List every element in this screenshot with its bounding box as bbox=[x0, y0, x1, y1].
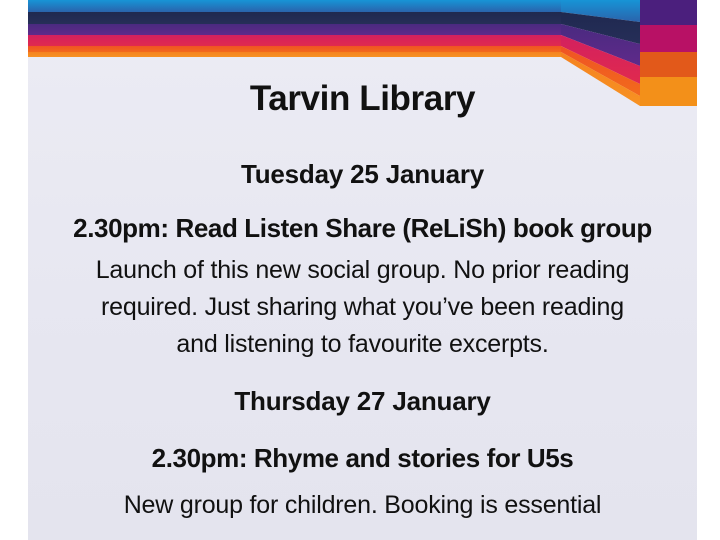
event-heading-relish: 2.30pm: Read Listen Share (ReLiSh) book … bbox=[28, 214, 697, 244]
poster-content: Tarvin Library Tuesday 25 January 2.30pm… bbox=[28, 0, 697, 540]
description-line: and listening to favourite excerpts. bbox=[42, 326, 683, 363]
description-line: required. Just sharing what you’ve been … bbox=[42, 289, 683, 326]
event-date-tuesday: Tuesday 25 January bbox=[28, 160, 697, 190]
event-heading-rhyme: 2.30pm: Rhyme and stories for U5s bbox=[28, 444, 697, 474]
description-line: Launch of this new social group. No prio… bbox=[42, 252, 683, 289]
poster: Tarvin Library Tuesday 25 January 2.30pm… bbox=[0, 0, 720, 540]
page-title: Tarvin Library bbox=[28, 80, 697, 119]
description-line: New group for children. Booking is essen… bbox=[28, 487, 697, 524]
event-date-thursday: Thursday 27 January bbox=[28, 387, 697, 417]
event-description-relish: Launch of this new social group. No prio… bbox=[28, 252, 697, 363]
event-description-rhyme: New group for children. Booking is essen… bbox=[28, 487, 697, 524]
